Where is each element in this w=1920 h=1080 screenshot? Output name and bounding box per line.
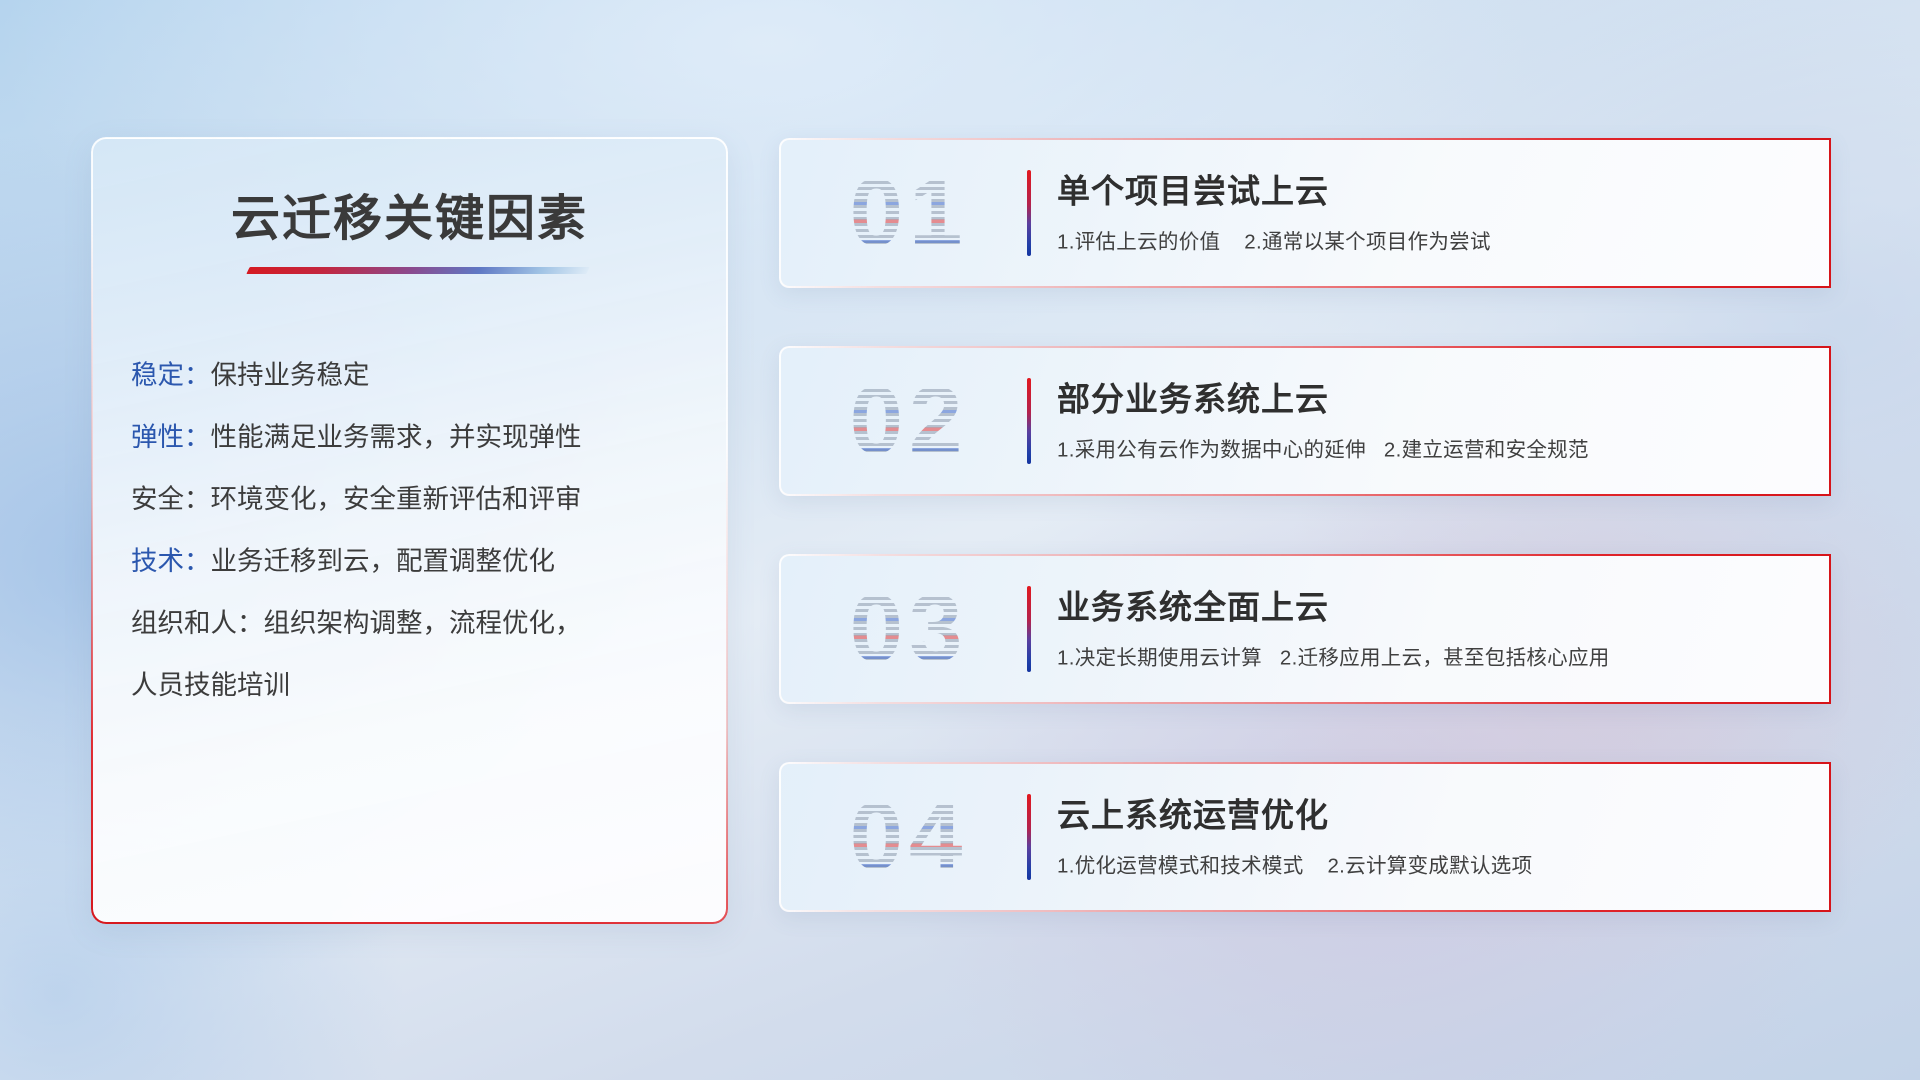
factor-item-technology: 技术：业务迁移到云，配置调整优化 bbox=[131, 530, 696, 592]
factor-label: 技术： bbox=[131, 546, 211, 576]
factor-text: 组织架构调整，流程优化， bbox=[264, 608, 582, 638]
key-factors-list: 稳定：保持业务稳定 弹性：性能满足业务需求，并实现弹性 安全：环境变化，安全重新… bbox=[131, 344, 696, 716]
factor-item-elasticity: 弹性：性能满足业务需求，并实现弹性 bbox=[131, 406, 696, 468]
page-title: 云迁移关键因素 bbox=[93, 179, 726, 250]
stage-card-04[interactable]: 04 04 云上系统运营优化 1.优化运营模式和技术模式 2.云计算变成默认选项 bbox=[779, 762, 1831, 912]
factor-item-security: 安全：环境变化，安全重新评估和评审 bbox=[131, 468, 696, 530]
stage-content: 业务系统全面上云 1.决定长期使用云计算 2.迁移应用上云，甚至包括核心应用 bbox=[1057, 587, 1807, 670]
factor-label: 稳定： bbox=[131, 360, 211, 390]
stage-card-03[interactable]: 03 03 业务系统全面上云 1.决定长期使用云计算 2.迁移应用上云，甚至包括… bbox=[779, 554, 1831, 704]
stage-title: 业务系统全面上云 bbox=[1057, 587, 1807, 627]
slide-root: 云迁移关键因素 稳定：保持业务稳定 弹性：性能满足业务需求，并实现弹性 安全：环… bbox=[0, 0, 1920, 1080]
factor-text: 业务迁移到云，配置调整优化 bbox=[211, 546, 556, 576]
factor-text: 人员技能培训 bbox=[131, 670, 290, 700]
factor-item-stability: 稳定：保持业务稳定 bbox=[131, 344, 696, 406]
key-factors-panel: 云迁移关键因素 稳定：保持业务稳定 弹性：性能满足业务需求，并实现弹性 安全：环… bbox=[92, 138, 727, 923]
stage-content: 部分业务系统上云 1.采用公有云作为数据中心的延伸 2.建立运营和安全规范 bbox=[1057, 379, 1807, 462]
stage-title: 部分业务系统上云 bbox=[1057, 379, 1807, 419]
stage-card-02[interactable]: 02 02 部分业务系统上云 1.采用公有云作为数据中心的延伸 2.建立运营和安… bbox=[779, 346, 1831, 496]
stage-points: 1.决定长期使用云计算 2.迁移应用上云，甚至包括核心应用 bbox=[1057, 641, 1807, 671]
title-underline-accent bbox=[246, 267, 589, 274]
stage-title: 单个项目尝试上云 bbox=[1057, 171, 1807, 211]
stage-card-01[interactable]: 01 01 单个项目尝试上云 1.评估上云的价值 2.通常以某个项目作为尝试 bbox=[779, 138, 1831, 288]
migration-stage-cards: 01 01 单个项目尝试上云 1.评估上云的价值 2.通常以某个项目作为尝试 0… bbox=[779, 138, 1831, 912]
stage-points: 1.优化运营模式和技术模式 2.云计算变成默认选项 bbox=[1057, 849, 1807, 879]
factor-text: 性能满足业务需求，并实现弹性 bbox=[211, 422, 582, 452]
stage-content: 云上系统运营优化 1.优化运营模式和技术模式 2.云计算变成默认选项 bbox=[1057, 795, 1807, 878]
stage-number: 03 bbox=[809, 573, 1009, 685]
factor-item-organization: 组织和人：组织架构调整，流程优化， bbox=[131, 592, 696, 654]
stage-content: 单个项目尝试上云 1.评估上云的价值 2.通常以某个项目作为尝试 bbox=[1057, 171, 1807, 254]
stage-accent-bar bbox=[1027, 378, 1031, 464]
factor-text: 保持业务稳定 bbox=[211, 360, 370, 390]
stage-points: 1.评估上云的价值 2.通常以某个项目作为尝试 bbox=[1057, 225, 1807, 255]
stage-number: 02 bbox=[809, 365, 1009, 477]
stage-accent-bar bbox=[1027, 794, 1031, 880]
stage-accent-bar bbox=[1027, 586, 1031, 672]
factor-item-organization-continued: 人员技能培训 bbox=[131, 654, 696, 716]
stage-number: 04 bbox=[809, 781, 1009, 893]
stage-accent-bar bbox=[1027, 170, 1031, 256]
stage-points: 1.采用公有云作为数据中心的延伸 2.建立运营和安全规范 bbox=[1057, 433, 1807, 463]
factor-label: 弹性： bbox=[131, 422, 211, 452]
stage-title: 云上系统运营优化 bbox=[1057, 795, 1807, 835]
stage-number: 01 bbox=[809, 157, 1009, 269]
factor-label: 安全： bbox=[131, 484, 211, 514]
factor-label: 组织和人： bbox=[131, 608, 264, 638]
factor-text: 环境变化，安全重新评估和评审 bbox=[211, 484, 582, 514]
